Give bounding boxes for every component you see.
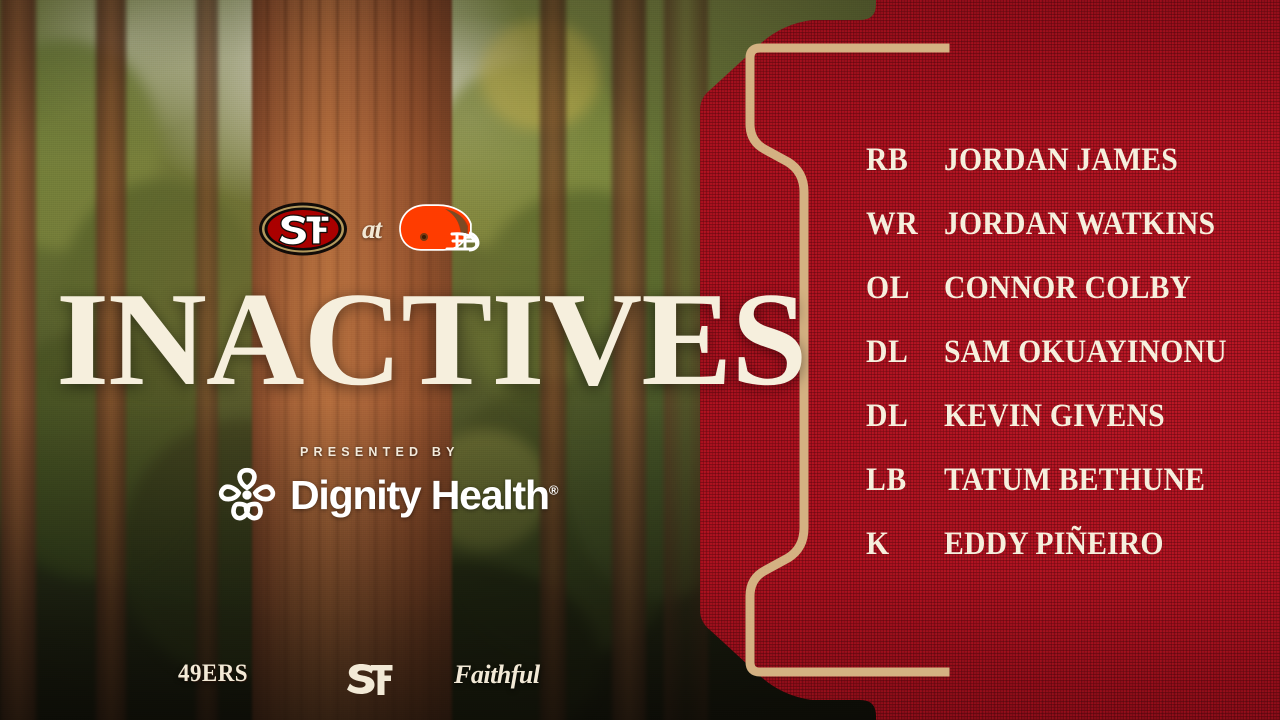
player-name: CONNOR COLBY xyxy=(944,272,1191,305)
player-position: WR xyxy=(866,208,936,241)
player-name: KEVIN GIVENS xyxy=(944,400,1165,433)
page-title: INACTIVES xyxy=(56,272,709,406)
footer-marks: 49ERS Faithful xyxy=(150,660,570,706)
inactives-roster-list: RB JORDAN JAMES WR JORDAN WATKINS OL CON… xyxy=(866,144,1266,592)
inactives-graphic: RB JORDAN JAMES WR JORDAN WATKINS OL CON… xyxy=(0,0,1280,720)
sponsor-lockup: Dignity Health® xyxy=(216,466,558,524)
player-name: SAM OKUAYINONU xyxy=(944,336,1227,369)
roster-row: LB TATUM BETHUNE xyxy=(866,464,1266,528)
player-name: EDDY PIÑEIRO xyxy=(944,528,1164,561)
sf-monogram-icon xyxy=(342,660,394,700)
faithful-script-icon: Faithful xyxy=(454,660,540,690)
player-position: K xyxy=(866,528,936,561)
player-position: LB xyxy=(866,464,936,497)
matchup-separator: at xyxy=(362,214,381,245)
sponsor-name: Dignity Health® xyxy=(290,472,558,519)
player-name: JORDAN WATKINS xyxy=(944,208,1215,241)
browns-helmet-icon xyxy=(395,198,483,260)
player-name: TATUM BETHUNE xyxy=(944,464,1205,497)
roster-row: WR JORDAN WATKINS xyxy=(866,208,1266,272)
player-position: DL xyxy=(866,400,936,433)
player-position: RB xyxy=(866,144,936,177)
sponsor-name-text: Dignity Health xyxy=(290,472,549,518)
roster-row: RB JORDAN JAMES xyxy=(866,144,1266,208)
roster-row: K EDDY PIÑEIRO xyxy=(866,528,1266,592)
matchup-logos: at xyxy=(258,198,483,260)
roster-row: DL KEVIN GIVENS xyxy=(866,400,1266,464)
dignity-health-petal-icon xyxy=(216,466,278,524)
player-name: JORDAN JAMES xyxy=(944,144,1178,177)
roster-row: OL CONNOR COLBY xyxy=(866,272,1266,336)
player-position: DL xyxy=(866,336,936,369)
sponsor-trademark: ® xyxy=(549,482,559,497)
49ers-oval-logo-icon xyxy=(258,201,348,257)
player-position: OL xyxy=(866,272,936,305)
49ers-wordmark-icon: 49ERS xyxy=(178,660,248,688)
roster-row: DL SAM OKUAYINONU xyxy=(866,336,1266,400)
presented-by-label: PRESENTED BY xyxy=(300,445,460,459)
